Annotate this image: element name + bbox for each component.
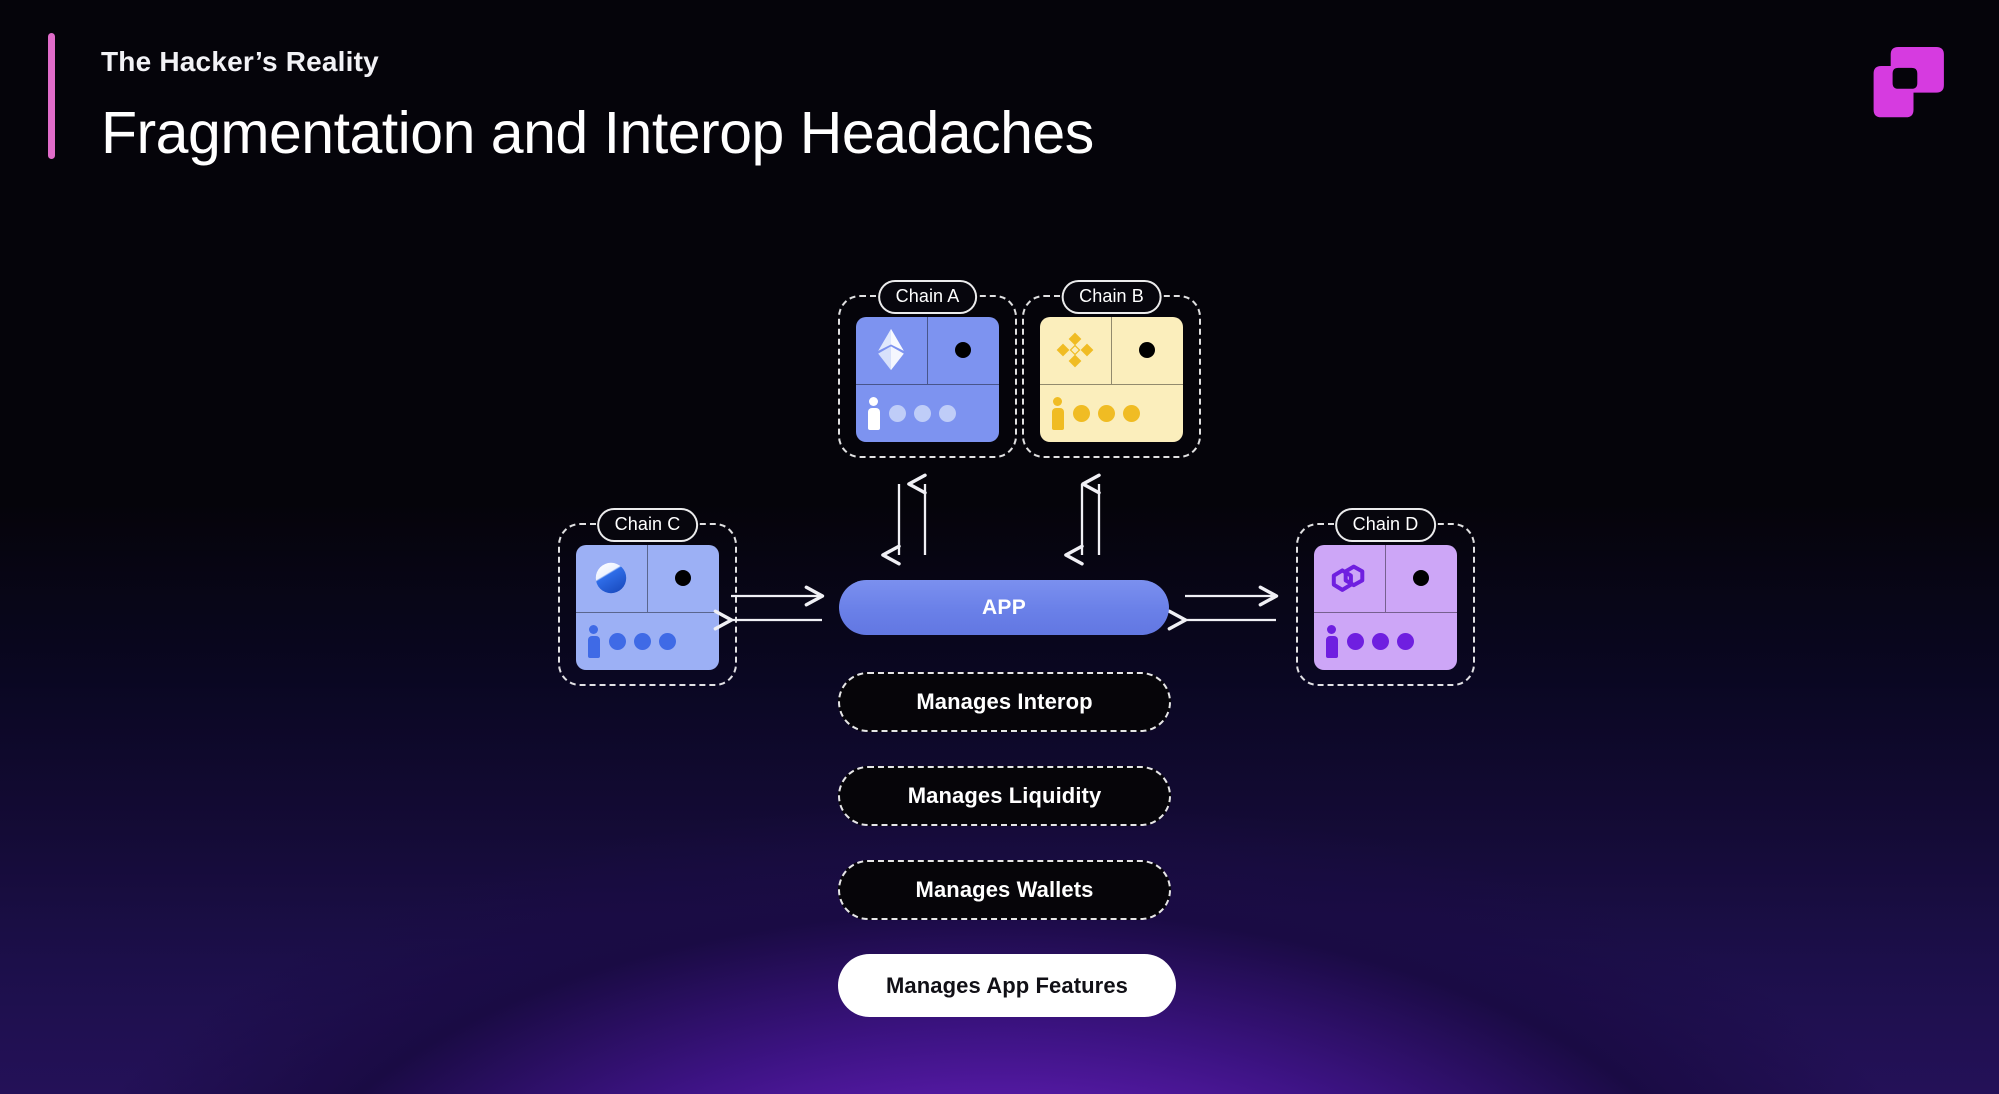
person-icon [1050,397,1065,430]
chain-a-label: Chain A [878,280,978,314]
user-dot [939,405,956,422]
manages-liquidity-pill[interactable]: Manages Liquidity [838,766,1171,826]
chain-c-label: Chain C [597,508,699,542]
chain-d-users-cell [1314,613,1457,670]
chain-a-users-cell [856,385,999,442]
black-dot-icon [955,342,971,358]
chain-d-label: Chain D [1335,508,1437,542]
chain-b-grid [1040,317,1183,442]
person-icon [586,625,601,658]
chain-d-grid [1314,545,1457,670]
chain-c-token-cell [576,545,648,613]
eyebrow-text: The Hacker’s Reality [101,47,1094,78]
user-dot [889,405,906,422]
accent-bar [48,33,55,159]
black-dot-icon [675,570,691,586]
manages-interop-pill[interactable]: Manages Interop [838,672,1171,732]
chain-d-dot-cell [1386,545,1458,613]
chain-a-dot-cell [928,317,1000,385]
slide-header: The Hacker’s Reality Fragmentation and I… [48,33,1094,166]
person-icon [866,397,881,430]
chain-c-dot-cell [648,545,720,613]
user-dot [1123,405,1140,422]
chain-c-users-cell [576,613,719,670]
chain-card-b[interactable]: Chain B [1022,295,1201,458]
ethereum-icon [875,328,907,372]
chain-c-grid [576,545,719,670]
chain-a-grid [856,317,999,442]
user-dot [1073,405,1090,422]
sui-icon [592,559,630,597]
chain-card-d[interactable]: Chain D [1296,523,1475,686]
binance-icon [1055,330,1095,370]
user-dot [1397,633,1414,650]
app-node[interactable]: APP [839,580,1169,635]
manages-app-features-pill[interactable]: Manages App Features [838,954,1176,1017]
chain-card-c[interactable]: Chain C [558,523,737,686]
chain-a-token-cell [856,317,928,385]
slide-canvas: The Hacker’s Reality Fragmentation and I… [0,0,1999,1094]
polygon-p-logo-icon [1855,28,1953,123]
user-dot [1372,633,1389,650]
page-title: Fragmentation and Interop Headaches [101,100,1094,166]
user-dot [634,633,651,650]
chain-b-token-cell [1040,317,1112,385]
chain-card-a[interactable]: Chain A [838,295,1017,458]
black-dot-icon [1139,342,1155,358]
person-icon [1324,625,1339,658]
black-dot-icon [1413,570,1429,586]
polygon-icon [1328,559,1370,597]
user-dot [1347,633,1364,650]
chain-b-dot-cell [1112,317,1184,385]
user-dot [609,633,626,650]
chain-b-label: Chain B [1061,280,1162,314]
user-dot [914,405,931,422]
manages-wallets-pill[interactable]: Manages Wallets [838,860,1171,920]
user-dot [659,633,676,650]
chain-d-token-cell [1314,545,1386,613]
chain-b-users-cell [1040,385,1183,442]
user-dot [1098,405,1115,422]
